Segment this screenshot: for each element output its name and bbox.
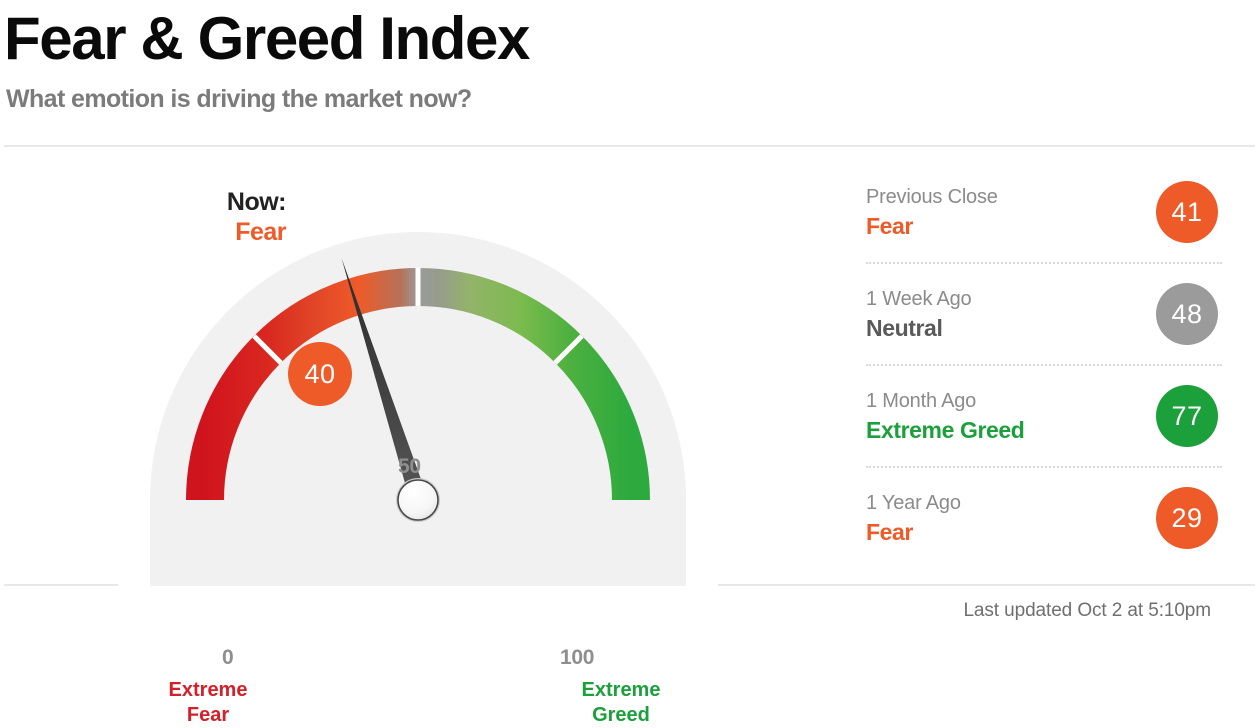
stat-row: Previous CloseFear41 <box>866 162 1222 262</box>
stat-period-label: 1 Week Ago <box>866 285 971 313</box>
stat-value-badge: 77 <box>1156 385 1218 447</box>
stat-row: 1 Week AgoNeutral48 <box>866 262 1222 364</box>
page-subtitle: What emotion is driving the market now? <box>6 82 472 116</box>
gauge-label-extreme-fear-line2: Fear <box>133 703 283 728</box>
stat-value-badge: 48 <box>1156 283 1218 345</box>
stat-text: 1 Year AgoFear <box>866 489 961 547</box>
stat-row: 1 Year AgoFear29 <box>866 466 1222 568</box>
gauge-now-label: Now: Fear <box>196 187 286 247</box>
gauge-svg <box>0 150 760 586</box>
historical-values-panel: Previous CloseFear411 Week AgoNeutral481… <box>866 162 1222 572</box>
gauge-label-extreme-greed-line1: Extreme <box>546 678 696 703</box>
gauge-pivot <box>396 478 440 522</box>
gauge-label-extreme-fear-line1: Extreme <box>133 678 283 703</box>
stat-text: 1 Week AgoNeutral <box>866 285 971 343</box>
stat-emotion-label: Fear <box>866 517 961 547</box>
gauge-tick-0: 0 <box>222 646 233 670</box>
stat-period-label: Previous Close <box>866 183 998 211</box>
stat-period-label: 1 Month Ago <box>866 387 1024 415</box>
gauge-label-extreme-greed: Extreme Greed <box>546 678 696 728</box>
stat-text: 1 Month AgoExtreme Greed <box>866 387 1024 445</box>
stat-row: 1 Month AgoExtreme Greed77 <box>866 364 1222 466</box>
stat-emotion-label: Neutral <box>866 313 971 343</box>
gauge-label-extreme-fear: Extreme Fear <box>133 678 283 728</box>
divider-top <box>4 145 1255 147</box>
gauge-now-word: Now: <box>196 187 286 217</box>
fear-greed-gauge: Now: Fear 40 0 50 100 Extreme Fear Extre… <box>0 150 760 586</box>
stat-emotion-label: Extreme Greed <box>866 415 1024 445</box>
stat-emotion-label: Fear <box>866 211 998 241</box>
last-updated-text: Last updated Oct 2 at 5:10pm <box>963 600 1211 622</box>
gauge-now-emotion: Fear <box>196 217 286 247</box>
gauge-tick-50: 50 <box>398 455 421 479</box>
stat-period-label: 1 Year Ago <box>866 489 961 517</box>
stat-text: Previous CloseFear <box>866 183 998 241</box>
stat-value-badge: 29 <box>1156 487 1218 549</box>
gauge-now-value-badge: 40 <box>288 342 352 406</box>
page-title: Fear & Greed Index <box>4 4 529 74</box>
gauge-label-extreme-greed-line2: Greed <box>546 703 696 728</box>
gauge-tick-100: 100 <box>560 646 594 670</box>
stat-value-badge: 41 <box>1156 181 1218 243</box>
